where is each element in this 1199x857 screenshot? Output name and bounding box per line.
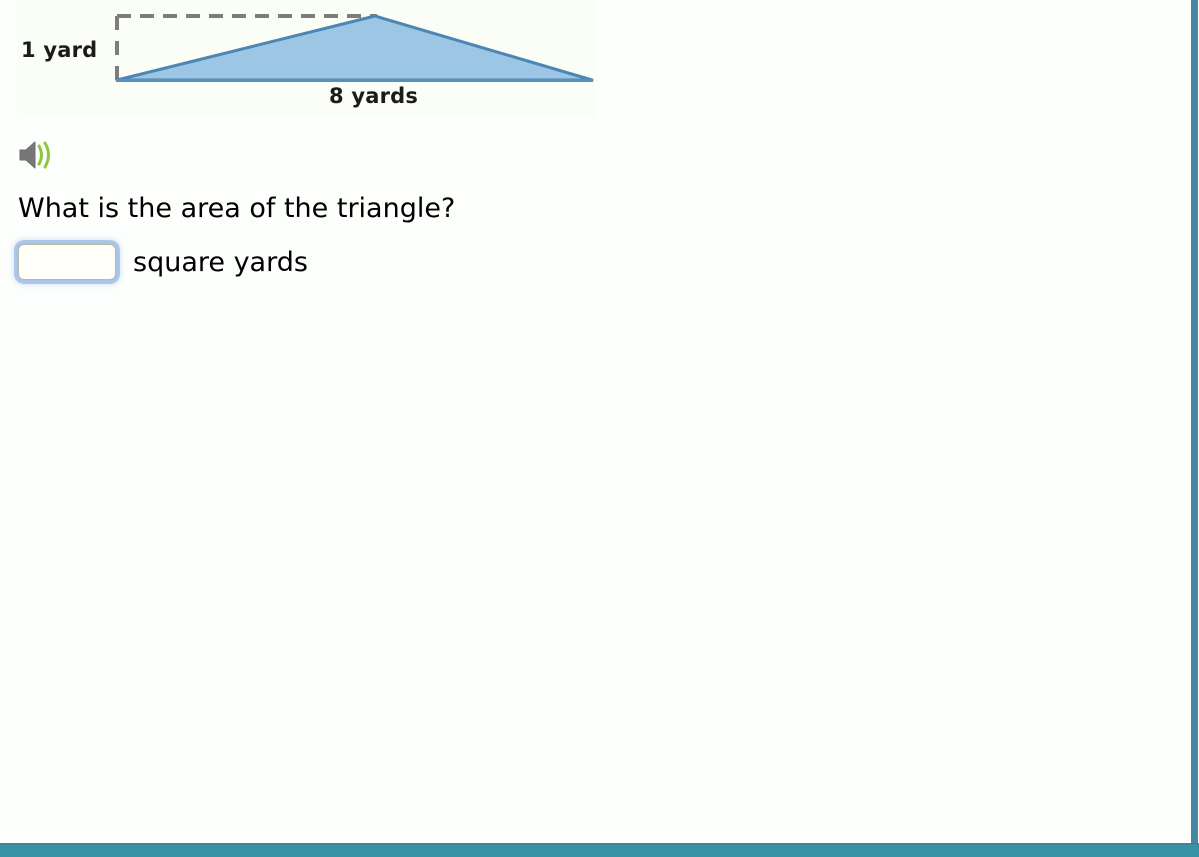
audio-play-button[interactable] bbox=[17, 138, 61, 172]
triangle-shape bbox=[117, 16, 592, 80]
speaker-body bbox=[20, 142, 35, 168]
triangle-diagram-panel: 1 yard 8 yards bbox=[17, 0, 595, 118]
content-canvas bbox=[0, 0, 1190, 838]
base-label: 8 yards bbox=[329, 84, 418, 108]
question-prompt: What is the area of the triangle? bbox=[18, 192, 455, 226]
answer-input[interactable] bbox=[18, 244, 116, 280]
speaker-icon[interactable] bbox=[17, 138, 61, 172]
answer-row: square yards bbox=[18, 238, 308, 286]
bottom-status-bar bbox=[0, 845, 1199, 857]
speaker-wave-inner bbox=[39, 146, 42, 164]
triangle-diagram-svg bbox=[17, 0, 595, 118]
height-label: 1 yard bbox=[21, 38, 97, 62]
page-shell: 1 yard 8 yards What is the area of the t… bbox=[0, 0, 1199, 857]
speaker-wave-outer bbox=[45, 143, 49, 167]
right-border-rule bbox=[1191, 0, 1198, 845]
answer-unit-label: square yards bbox=[133, 247, 308, 278]
